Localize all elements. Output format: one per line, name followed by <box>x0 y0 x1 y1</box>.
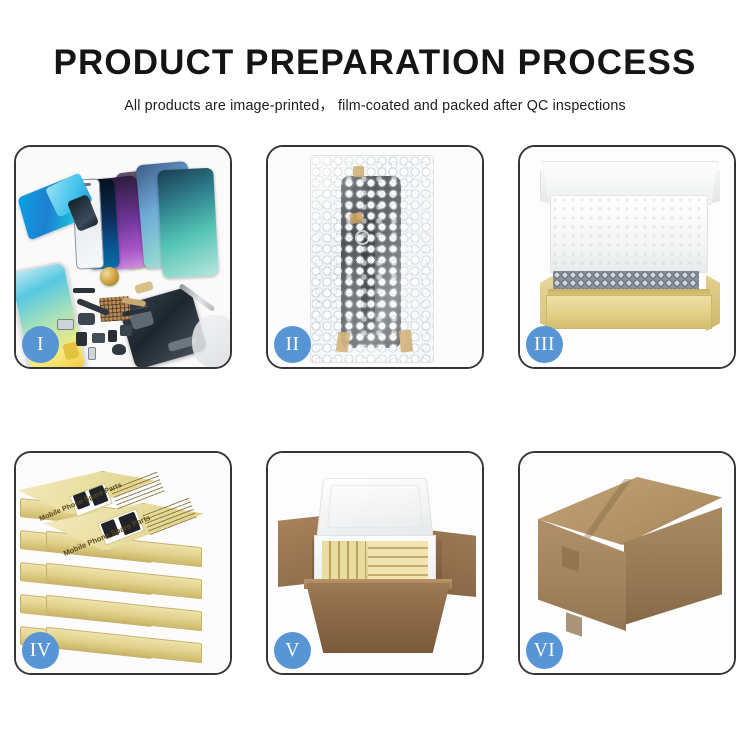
process-step-card-2: II <box>266 145 484 369</box>
white-foam-sheet-icon <box>550 195 708 273</box>
step-badge-2: II <box>274 326 311 363</box>
kraft-boxes-inside-icon <box>322 541 428 583</box>
process-step-card-4: Mobile Phone Spare Parts Mobile Phone Sp… <box>14 451 232 675</box>
small-part-icon <box>88 347 96 360</box>
kraft-box-edge-icon <box>46 595 202 631</box>
phone-display-green-wave-icon <box>157 168 219 279</box>
metal-bracket-icon <box>57 319 74 330</box>
kraft-box-front-wall-icon <box>546 295 712 329</box>
foam-box-lid-icon <box>316 478 433 538</box>
small-part-icon <box>76 332 87 346</box>
step-badge-1: I <box>22 326 59 363</box>
step-badge-3: III <box>526 326 563 363</box>
carton-front-wall-icon <box>306 583 450 653</box>
product-preparation-infographic: PRODUCT PREPARATION PROCESS All products… <box>0 0 750 750</box>
kraft-box-edge-icon <box>46 563 202 599</box>
page-title: PRODUCT PREPARATION PROCESS <box>0 44 750 83</box>
small-part-icon <box>92 333 105 343</box>
step-badge-5: V <box>274 632 311 669</box>
speaker-coil-icon <box>100 267 119 286</box>
process-step-card-3: III <box>518 145 736 369</box>
kraft-box-edge-icon <box>46 627 202 663</box>
small-part-icon <box>78 313 95 325</box>
process-step-card-5: V <box>266 451 484 675</box>
hand-icon <box>192 315 230 367</box>
step-badge-6: VI <box>526 632 563 669</box>
step-badge-4: IV <box>22 632 59 669</box>
process-step-card-1: I <box>14 145 232 369</box>
small-part-icon <box>112 344 126 355</box>
foam-texture-layer <box>551 196 707 272</box>
box-spec-text-lines <box>141 495 196 535</box>
page-subtitle: All products are image-printed， film-coa… <box>0 94 750 115</box>
bubble-wrap-bag-icon <box>310 155 434 363</box>
plastic-sheen-overlay <box>311 156 433 362</box>
small-part-icon <box>120 325 132 336</box>
small-part-icon <box>108 330 117 342</box>
process-step-grid: I II <box>14 145 736 675</box>
header: PRODUCT PREPARATION PROCESS All products… <box>0 0 750 115</box>
small-part-icon <box>73 288 95 293</box>
process-step-card-6: VI <box>518 451 736 675</box>
